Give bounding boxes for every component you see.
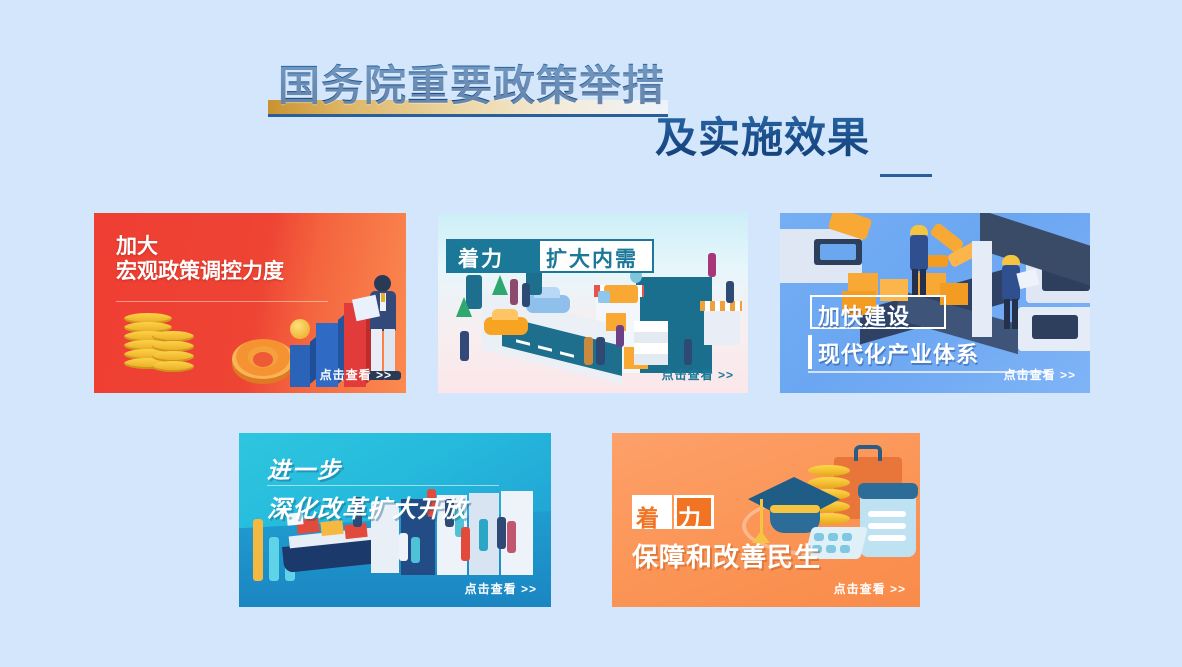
card-4-title-rule [267, 485, 499, 486]
stairs [634, 321, 668, 365]
graduation-cap-band [770, 505, 820, 513]
card-4-title-line2: 深化改革扩大开放 [267, 489, 467, 524]
graduation-tassel [760, 499, 763, 535]
person-figure [507, 521, 516, 553]
worker-leg [1012, 299, 1018, 329]
page-title-line2: 及实施效果 [655, 104, 870, 165]
tree-icon [492, 275, 508, 295]
card-5-title-char-1: 着 [636, 499, 659, 533]
policy-card-reform-opening[interactable]: 进一步 深化改革扩大开放 点击查看 >> [239, 433, 551, 607]
coin-disc [808, 477, 850, 488]
torus-icon [232, 339, 294, 379]
policy-card-expand-demand[interactable]: 着力 扩大内需 点击查看 >> [438, 213, 748, 393]
card-1-title-rule [116, 301, 328, 302]
coin-icon [290, 319, 310, 339]
card-4-title-line1: 进一步 [267, 451, 342, 485]
card-1-title-line1: 加大 [116, 235, 284, 260]
worker-leg [1004, 299, 1010, 329]
pill [826, 545, 836, 553]
jar-label-line [868, 523, 906, 529]
worker-body [910, 235, 928, 271]
jar-label-line [868, 535, 906, 541]
card-3-title-line1: 加快建设 [818, 299, 910, 331]
machine-screen-glow [820, 244, 856, 260]
support-pillar [972, 241, 992, 337]
person-figure [684, 339, 692, 365]
card-1-title-line2: 宏观政策调控力度 [116, 260, 284, 285]
person-figure [479, 519, 488, 551]
title-tail-rule [880, 174, 932, 177]
chart-bar [253, 519, 263, 581]
card-3-cta-link[interactable]: 点击查看 >> [1004, 366, 1076, 383]
coin-stack-small-icon [152, 331, 194, 373]
card-3-title-line2: 现代化产业体系 [818, 337, 979, 369]
person-figure [616, 325, 624, 347]
worker-helmet [910, 225, 928, 235]
worker-helmet [1002, 255, 1020, 265]
person-figure [726, 281, 734, 303]
jar-label-line [868, 511, 906, 517]
card-1-title: 加大 宏观政策调控力度 [116, 235, 284, 285]
card-4-cta-link[interactable]: 点击查看 >> [465, 580, 537, 597]
card-2-title-line2: 扩大内需 [546, 243, 638, 273]
card-5-title-char-2: 力 [678, 499, 701, 533]
policy-card-modern-industry[interactable]: 加快建设 现代化产业体系 点击查看 >> [780, 213, 1090, 393]
card-5-cta-link[interactable]: 点击查看 >> [834, 580, 906, 597]
briefcase-handle [854, 445, 882, 461]
robot-gripper [926, 255, 948, 267]
medicine-jar-lid [858, 483, 918, 499]
page-title-block: 国务院重要政策举措 及实施效果 [0, 52, 1182, 162]
person-figure [461, 527, 470, 561]
person-figure [510, 279, 518, 305]
card-1-cta-link[interactable]: 点击查看 >> [320, 366, 392, 383]
page-root: 国务院重要政策举措 及实施效果 [0, 0, 1182, 667]
person-figure [460, 331, 469, 361]
car-orange-top [492, 309, 518, 320]
policy-card-macro-control[interactable]: 加大 宏观政策调控力度 点击查看 >> [94, 213, 406, 393]
machine-screen [1032, 315, 1078, 339]
card-2-title-line1: 着力 [458, 243, 504, 273]
truck-cab [598, 291, 610, 303]
worker-leg [912, 269, 918, 295]
policy-card-livelihood[interactable]: 着 力 保障和改善民生 点击查看 >> [612, 433, 920, 607]
page-title-line1: 国务院重要政策举措 [278, 52, 665, 113]
person-figure [497, 517, 506, 549]
pill [842, 533, 852, 541]
tree-icon [456, 297, 472, 317]
card-5-title-line2: 保障和改善民生 [632, 537, 821, 574]
person-figure [522, 283, 530, 307]
coin-disc [808, 465, 850, 476]
person-figure [411, 537, 420, 563]
stall-body [704, 311, 740, 345]
card-2-cta-link[interactable]: 点击查看 >> [662, 366, 734, 383]
person-figure [596, 337, 605, 365]
pill [840, 545, 850, 553]
title-blue-rule [268, 114, 668, 117]
person-figure [399, 533, 408, 561]
chart-bar [269, 537, 279, 581]
worker-body [1002, 265, 1020, 301]
person-figure [584, 337, 593, 365]
person-figure [708, 253, 716, 277]
card-3-title-bar [808, 335, 812, 369]
pill [828, 533, 838, 541]
stall-awning [700, 301, 742, 311]
worker-leg [920, 269, 926, 295]
bar-chart-bar-1 [290, 345, 310, 387]
